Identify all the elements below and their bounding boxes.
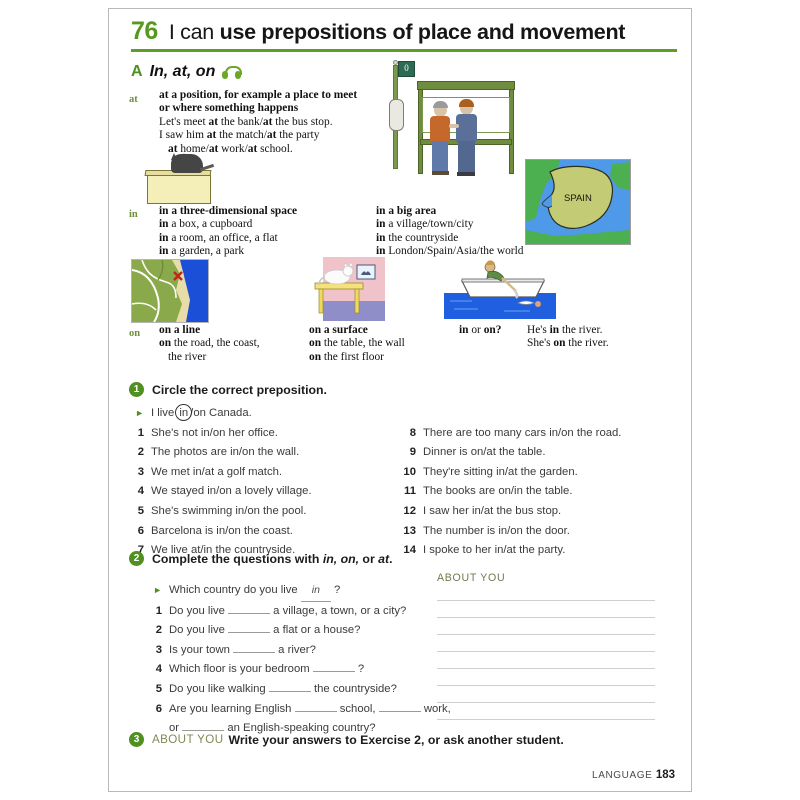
about-you-line[interactable] [437,600,655,601]
about-you-line[interactable] [437,719,655,720]
grammar-line: at a position, for example a place to me… [159,89,357,102]
question-number: 13 [401,522,416,542]
question-text: Is your town a river? [169,641,316,661]
question-number: 3 [129,463,144,483]
answer-blank[interactable] [313,660,355,672]
grammar-line: She's on the river. [527,337,609,350]
page-footer: LANGUAGE 183 [592,769,675,781]
question-text: I saw her in/at the bus stop. [423,502,561,522]
answer-blank[interactable] [233,641,275,653]
answer-blank-filled[interactable]: in [301,581,331,602]
about-you-box: ABOUT YOU [437,572,655,720]
question-text: She's not in/on her office. [151,424,278,444]
question-text: Do you like walking the countryside? [169,680,397,700]
footer-page-number: 183 [656,769,675,781]
textbook-page: 76 I can use prepositions of place and m… [108,8,692,792]
question-text: I live in/on Canada. [151,404,252,424]
question-text: Dinner is on/at the table. [423,443,545,463]
question-number: 5 [129,502,144,522]
grammar-block-in-or-on: He's in the river.She's on the river. [527,324,609,351]
header-rule [131,49,677,52]
exercise-3: 3 ABOUT YOU Write your answers to Exerci… [129,732,675,747]
grammar-line: in the countryside [376,232,523,245]
bus-stop-illustration: 0 [377,59,522,181]
grammar-line: the river [159,351,260,364]
grammar-line: in a big area [376,205,523,218]
question-number: 1 [129,424,144,444]
list-item[interactable]: 1She's not in/on her office. [129,424,401,444]
question-number: 6 [129,522,144,542]
answer-blank[interactable] [182,719,224,731]
question-number: 4 [147,660,162,680]
exercise-2-number: 2 [129,551,144,566]
question-number: 2 [147,621,162,641]
grammar-block-in-left: in a three-dimensional spacein a box, a … [159,205,297,259]
page-title-plain: I can [169,20,220,44]
about-you-line[interactable] [437,668,655,669]
question-text: Do you live a flat or a house? [169,621,360,641]
question-text: The books are on/in the table. [423,482,572,502]
exercise-1-title: Circle the correct preposition. [152,383,327,397]
grammar-line: in a box, a cupboard [159,218,297,231]
spain-map-label: SPAIN [564,193,592,204]
question-text: The number is in/on the door. [423,522,570,542]
coast-road-map-illustration [131,259,209,323]
question-text: She's swimming in/on the pool. [151,502,306,522]
grammar-in-or-on-prompt: in or on? [459,324,501,337]
question-number: 2 [129,443,144,463]
headphones-icon [222,66,241,79]
footer-label: LANGUAGE [592,770,652,781]
exercise-1-number: 1 [129,382,144,397]
answer-blank[interactable] [295,700,337,712]
list-item[interactable]: 2The photos are in/on the wall. [129,443,401,463]
grammar-line: in a garden, a park [159,245,297,258]
grammar-line: Let's meet at the bank/at the bus stop. [159,116,357,129]
circled-answer[interactable]: in [177,407,190,419]
answer-blank[interactable] [379,700,421,712]
exercise-1-left-column: ► I live in/on Canada. 1She's not in/on … [129,404,401,561]
grammar-line: in a village/town/city [376,218,523,231]
page-header: 76 I can use prepositions of place and m… [131,17,677,52]
question-number: ► [147,581,162,602]
grammar-line: or where something happens [159,102,357,115]
exercise-3-title: Write your answers to Exercise 2, or ask… [228,733,563,747]
list-item[interactable]: 3We met in/at a golf match. [129,463,401,483]
question-text: They're sitting in/at the garden. [423,463,578,483]
grammar-key-at: at [129,93,138,106]
question-number: 1 [147,602,162,622]
grammar-line: on the first floor [309,351,405,364]
question-number: 8 [401,424,416,444]
grammar-line: in a room, an office, a flat [159,232,297,245]
question-number: 5 [147,680,162,700]
about-you-line[interactable] [437,651,655,652]
page-title: I can use prepositions of place and move… [169,20,625,45]
answer-blank[interactable] [269,680,311,692]
about-you-line[interactable] [437,685,655,686]
list-item[interactable]: 11The books are on/in the table. [401,482,675,502]
exercise-2-header: 2 Complete the questions with in, on, or… [129,551,675,566]
grammar-line: I saw him at the match/at the party [159,129,357,142]
river-boat-svg [444,257,556,319]
exercise-1-right-column: 8There are too many cars in/on the road.… [401,404,675,561]
exercise-1-header: 1 Circle the correct preposition. [129,382,675,397]
question-text: The photos are in/on the wall. [151,443,299,463]
about-you-title: ABOUT YOU [437,572,655,584]
river-boat-illustration [444,257,556,319]
list-item[interactable]: 12I saw her in/at the bus stop. [401,502,675,522]
list-item[interactable]: 6Barcelona is in/on the coast. [129,522,401,542]
list-item[interactable]: 10They're sitting in/at the garden. [401,463,675,483]
question-text: Which country do you live in ? [169,581,340,602]
in-or-on-label: in or on? [459,324,501,336]
grammar-block-on-surface: on a surfaceon the table, the wallon the… [309,324,405,364]
list-item[interactable]: 13The number is in/on the door. [401,522,675,542]
answer-blank[interactable] [228,602,270,614]
question-number: 3 [147,641,162,661]
question-number: 10 [401,463,416,483]
grammar-block-in-right: in a big areain a village/town/cityin th… [376,205,523,259]
example-marker: ► [129,404,144,424]
list-item[interactable]: 5She's swimming in/on the pool. [129,502,401,522]
unit-number: 76 [131,17,158,46]
grammar-line: on a surface [309,324,405,337]
question-number: 12 [401,502,416,522]
about-you-line[interactable] [437,634,655,635]
question-text: There are too many cars in/on the road. [423,424,621,444]
about-you-line[interactable] [437,702,655,703]
page-title-bold: use prepositions of place and movement [220,20,626,44]
spain-map-illustration: SPAIN [525,159,631,245]
cat-in-box-illustration [131,152,223,204]
question-text: We stayed in/on a lovely village. [151,482,312,502]
exercise-3-tag: ABOUT YOU [152,733,223,746]
grammar-block-at: at a position, for example a place to me… [159,89,357,156]
coast-map-svg [132,260,208,322]
question-number: 11 [401,482,416,502]
grammar-line: in a three-dimensional space [159,205,297,218]
cat-table-svg [301,257,385,321]
question-number: 6 [147,700,162,720]
list-item[interactable]: 9Dinner is on/at the table. [401,443,675,463]
exercise-1-left-items: 1She's not in/on her office.2The photos … [129,424,401,561]
exercise-1: 1 Circle the correct preposition. ► I li… [129,382,675,561]
exercise-1-right-items: 8There are too many cars in/on the road.… [401,424,675,561]
exercise-3-header: 3 ABOUT YOU Write your answers to Exerci… [129,732,675,747]
grammar-line: on the road, the coast, [159,337,260,350]
section-a-heading: A In, at, on [131,63,241,81]
question-text: Do you live a village, a town, or a city… [169,602,406,622]
question-text: Are you learning English school, work, [169,700,451,720]
grammar-line: on a line [159,324,260,337]
question-text: Which floor is your bedroom ? [169,660,364,680]
section-a-title: In, at, on [150,63,216,81]
question-text: We met in/at a golf match. [151,463,282,483]
exercise-3-number: 3 [129,732,144,747]
exercise-2-title: Complete the questions with in, on, or a… [152,552,393,566]
question-text: Barcelona is in/on the coast. [151,522,293,542]
grammar-block-on-left: on a lineon the road, the coast,the rive… [159,324,260,364]
cat-on-table-illustration [301,257,385,321]
grammar-line: on the table, the wall [309,337,405,350]
about-you-lines[interactable] [437,600,655,720]
grammar-line: He's in the river. [527,324,609,337]
list-item[interactable]: ► I live in/on Canada. [129,404,401,424]
question-number: 4 [129,482,144,502]
grammar-key-in: in [129,208,138,221]
grammar-key-on: on [129,327,140,340]
question-number: 9 [401,443,416,463]
answer-blank[interactable] [228,621,270,633]
bus-stop-sign-text: 0 [399,62,414,75]
list-item[interactable]: 8There are too many cars in/on the road. [401,424,675,444]
list-item[interactable]: 4We stayed in/on a lovely village. [129,482,401,502]
about-you-line[interactable] [437,617,655,618]
section-a-letter: A [131,63,143,81]
